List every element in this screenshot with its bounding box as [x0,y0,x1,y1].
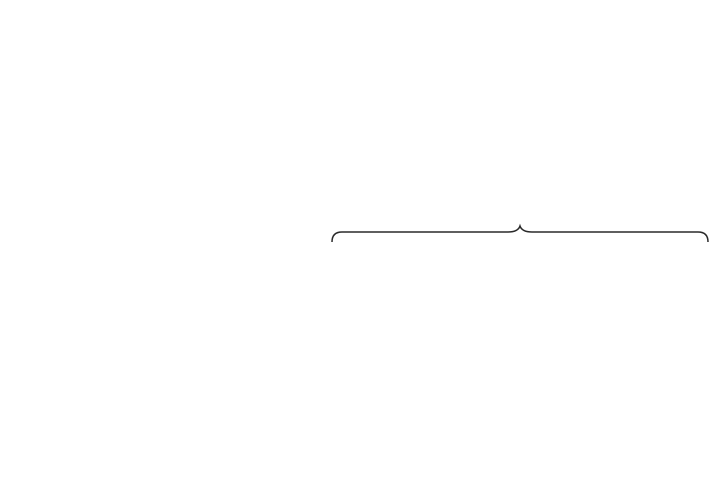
conditional-brace [330,229,710,243]
conditional-header [330,230,710,278]
panel-conditional-5s [296,282,508,478]
panel-sensory-evidence [8,96,288,396]
sensory-evidence-chart [8,96,288,396]
fixed-drift-rates-chart [508,9,716,185]
panel-fixed-reward-timing [508,8,716,234]
blue-drift-rates-chart [296,282,508,478]
bounds-chart [296,34,508,234]
panel-bounds [296,34,508,234]
panel-conditional-1-7s [508,282,716,478]
green-drift-rates-chart [508,282,716,478]
